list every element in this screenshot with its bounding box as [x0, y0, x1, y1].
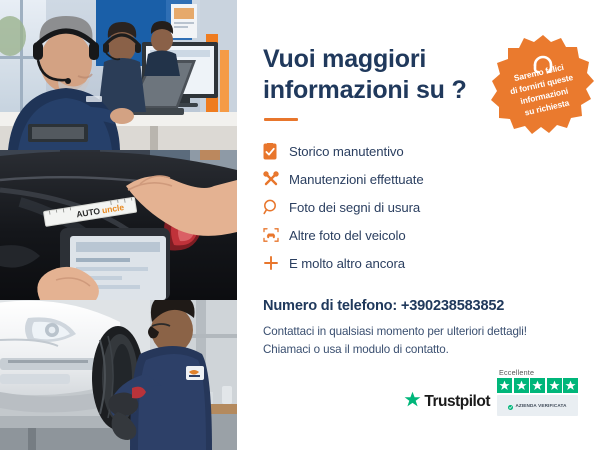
verified-business-badge: AZIENDA VERIFICATA: [497, 395, 578, 416]
feature-label: Foto dei segni di usura: [289, 200, 420, 215]
wrench-screwdriver-icon: [263, 171, 289, 187]
promo-content: Vuoi maggiori informazioni su ? Saremo f…: [237, 0, 600, 450]
plus-icon: [263, 255, 289, 271]
feature-label: Storico manutentivo: [289, 144, 404, 159]
trustpilot-star-icon: [404, 391, 421, 413]
trustpilot-logo: Trustpilot: [404, 391, 490, 416]
headline-line-2: informazioni su ?: [263, 75, 495, 106]
feature-item-more-photos: Altre foto del veicolo: [263, 221, 578, 249]
feature-label: E molto altro ancora: [289, 256, 405, 271]
feature-label: Altre foto del veicolo: [289, 228, 406, 243]
star-icon: [530, 378, 545, 393]
title-divider: [264, 118, 298, 121]
feature-item-wear-photos: Foto dei segni di usura: [263, 193, 578, 221]
call-center-agents-photo: [0, 0, 237, 150]
verified-label: AZIENDA VERIFICATA: [515, 403, 566, 408]
contact-subtext-line-2: Chiamaci o usa il modulo di contatto.: [263, 341, 578, 359]
feature-item-more: E molto altro ancora: [263, 249, 578, 277]
vehicle-inspection-photo: AUTO uncle: [0, 150, 237, 300]
trustpilot-widget[interactable]: Trustpilot Eccellente AZIENDA VERIFICATA: [404, 368, 578, 416]
contact-subtext: Contattaci in qualsiasi momento per ulte…: [263, 323, 578, 359]
feature-list: Storico manutentivo Manutenzioni effettu…: [263, 137, 578, 277]
phone-number[interactable]: Numero di telefono: +390238583852: [263, 298, 578, 314]
trustpilot-rating: Eccellente AZIENDA VERIFICATA: [497, 368, 578, 416]
star-icon: [514, 378, 529, 393]
check-circle-icon: [508, 397, 513, 415]
magnifier-icon: [263, 199, 289, 215]
photo-strip: AUTO uncle: [0, 0, 237, 450]
clipboard-check-icon: [263, 143, 289, 160]
request-info-badge: Saremo felici di fornirti queste informa…: [491, 33, 595, 137]
star-icon: [563, 378, 578, 393]
wheel-inspection-photo: [0, 300, 237, 450]
feature-label: Manutenzioni effettuate: [289, 172, 424, 187]
feature-item-maintenance-done: Manutenzioni effettuate: [263, 165, 578, 193]
star-rating: [497, 378, 578, 393]
star-icon: [547, 378, 562, 393]
star-icon: [497, 378, 512, 393]
car-frame-icon: [263, 227, 289, 243]
page-title: Vuoi maggiori informazioni su ?: [263, 44, 495, 105]
contact-subtext-line-1: Contattaci in qualsiasi momento per ulte…: [263, 323, 578, 341]
feature-item-maintenance-history: Storico manutentivo: [263, 137, 578, 165]
contact-block: Numero di telefono: +390238583852 Contat…: [263, 298, 578, 359]
rating-label: Eccellente: [497, 368, 534, 377]
headline-line-1: Vuoi maggiori: [263, 45, 426, 73]
promo-banner: AUTO uncle: [0, 0, 600, 450]
trustpilot-name: Trustpilot: [424, 393, 490, 411]
